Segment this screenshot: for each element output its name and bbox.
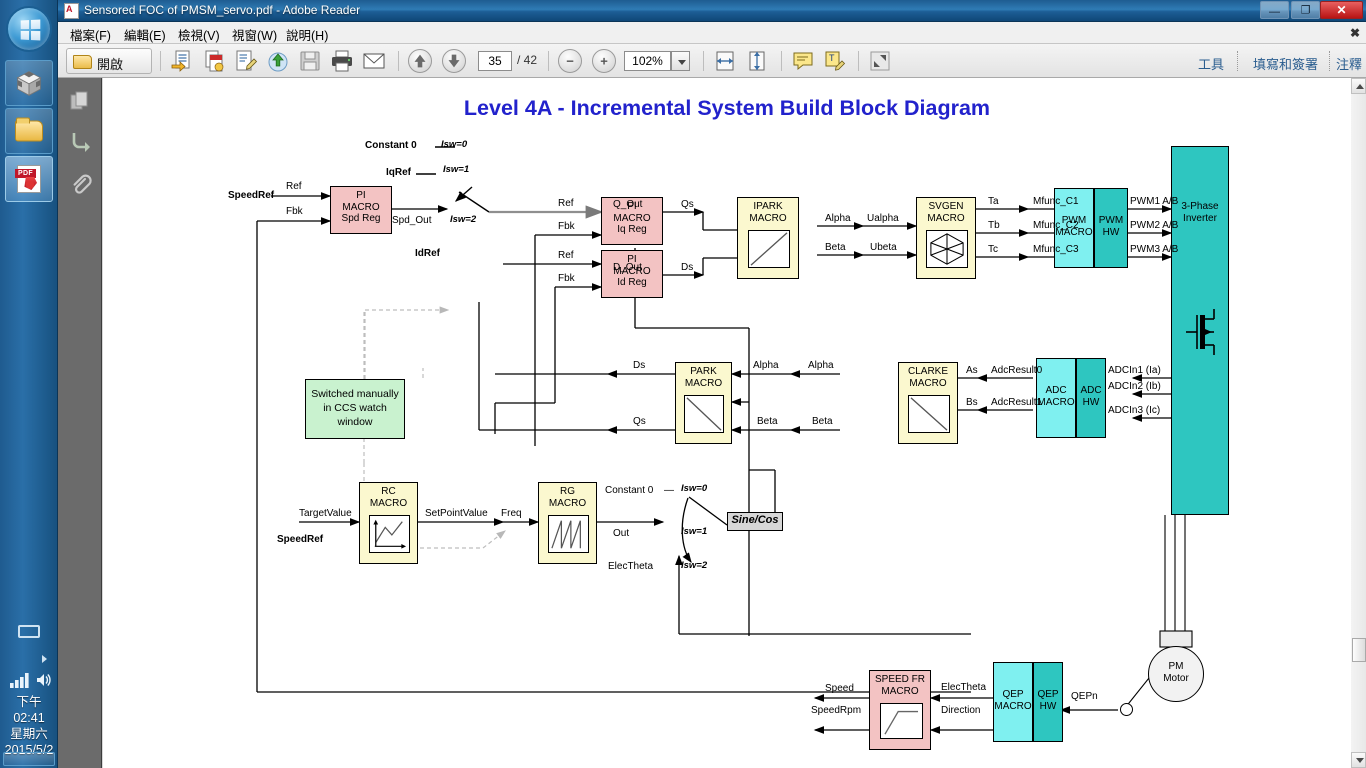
block-label: 3-PhaseInverter <box>1181 201 1218 224</box>
block-speed-fr-macro[interactable]: SPEED FRMACRO <box>869 670 931 750</box>
label-q-out: Q_Out <box>613 199 642 210</box>
ipark-glyph-icon <box>748 230 790 268</box>
menu-view[interactable]: 檢視(V) <box>174 25 224 44</box>
label-qepn: QEPn <box>1071 691 1098 702</box>
clock-time: 下午 02:41 <box>0 694 58 726</box>
dash-bot: — <box>664 485 674 496</box>
email-icon[interactable] <box>362 49 386 73</box>
adobe-reader-icon <box>64 3 79 19</box>
block-rg-macro[interactable]: RGMACRO <box>538 482 597 564</box>
block-label: PIMACROSpd Reg <box>342 190 381 224</box>
block-pi-id-reg[interactable]: PIMACROId Reg <box>601 250 663 298</box>
label-adcin3: ADCIn3 (Ic) <box>1108 405 1160 416</box>
label-isw-2-top: Isw=2 <box>450 215 476 226</box>
minimize-button[interactable]: — <box>1260 1 1289 19</box>
vertical-scrollbar[interactable] <box>1350 78 1366 768</box>
block-qep-macro[interactable]: QEPMACRO <box>993 662 1033 742</box>
print-icon[interactable] <box>330 49 354 73</box>
label-ds-top: Ds <box>681 262 693 273</box>
label-qs-top: Qs <box>681 199 694 210</box>
toolbar-divider <box>703 51 704 71</box>
cube-icon <box>15 69 43 97</box>
label-adcin1: ADCIn1 (Ia) <box>1108 365 1161 376</box>
menu-help[interactable]: 說明(H) <box>282 25 332 44</box>
toolbar-divider <box>548 51 549 71</box>
label-isw-0-bot: Isw=0 <box>681 484 707 495</box>
menu-bar: 檔案(F) 編輯(E) 檢視(V) 視窗(W) 說明(H) ✖ <box>58 22 1366 44</box>
block-svgen-macro[interactable]: SVGENMACRO <box>916 197 976 279</box>
label-speedrpm: SpeedRpm <box>811 705 861 716</box>
label-tb: Tb <box>988 220 1000 231</box>
arrow-up-icon <box>409 50 431 72</box>
fit-page-icon[interactable] <box>745 49 769 73</box>
label-ref-1: Ref <box>286 181 302 192</box>
window-titlebar: Sensored FOC of PMSM_servo.pdf - Adobe R… <box>58 0 1366 22</box>
label-mfunc-c3: Mfunc_C3 <box>1033 244 1079 255</box>
label-constant-0-bot: Constant 0 <box>605 485 653 496</box>
label-pwm2: PWM2 A/B <box>1130 220 1178 231</box>
label-bs: Bs <box>966 397 978 408</box>
block-label: PARKMACRO <box>685 366 722 389</box>
block-ipark-macro[interactable]: IPARKMACRO <box>737 197 799 279</box>
zoom-out-button[interactable]: − <box>558 49 582 73</box>
zoom-dropdown-button[interactable] <box>671 51 690 71</box>
block-3phase-inverter[interactable]: 3-PhaseInverter <box>1171 146 1229 515</box>
scroll-down-icon <box>1356 758 1364 763</box>
signal-bars-icon[interactable] <box>10 672 32 688</box>
scroll-up-button[interactable] <box>1351 78 1366 94</box>
taskbar-clock[interactable]: 下午 02:41 星期六 2015/5/2 <box>0 694 58 758</box>
toolbar-divider <box>160 51 161 71</box>
label-freq: Freq <box>501 508 522 519</box>
fit-width-icon[interactable] <box>713 49 737 73</box>
ramp-generator-glyph-icon <box>548 515 589 553</box>
label-adcin2: ADCIn2 (Ib) <box>1108 381 1161 392</box>
label-isw-0-top: Isw=0 <box>441 140 467 151</box>
block-label: SVGENMACRO <box>927 201 964 224</box>
fullscreen-icon[interactable] <box>868 49 892 73</box>
page-number-input[interactable]: 35 <box>478 51 512 71</box>
save-icon[interactable] <box>298 49 322 73</box>
zoom-level-input[interactable]: 102% <box>624 51 671 71</box>
block-label: ADCMACRO <box>1037 385 1074 408</box>
block-diagram: Level 4A - Incremental System Build Bloc… <box>103 78 1351 768</box>
label-ubeta: Ubeta <box>870 242 897 253</box>
menubar-close-icon[interactable]: ✖ <box>1350 26 1360 40</box>
menu-file[interactable]: 檔案(F) <box>66 25 115 44</box>
ramp-control-glyph-icon <box>369 515 410 553</box>
block-qep-hw[interactable]: QEPHW <box>1033 662 1063 742</box>
block-label: ADCHW <box>1080 385 1101 408</box>
block-label: QEPHW <box>1037 689 1058 712</box>
navigation-pane <box>58 78 102 768</box>
toolbar: 開啟 <box>58 44 1366 78</box>
label-alpha-park: Alpha <box>753 360 779 371</box>
fill-and-sign-link[interactable]: 填寫和簽署 <box>1253 54 1318 73</box>
scrollbar-thumb[interactable] <box>1352 638 1366 662</box>
next-page-button[interactable] <box>442 49 466 73</box>
label-constant-0-top: Constant 0 <box>365 140 417 151</box>
label-ref-2: Ref <box>558 198 574 209</box>
toolbar-divider <box>858 51 859 71</box>
create-pdf-icon[interactable] <box>170 49 194 73</box>
menu-window[interactable]: 視窗(W) <box>228 25 281 44</box>
label-isw-1-bot: Isw=1 <box>681 527 707 538</box>
toolbar-divider <box>1329 51 1330 71</box>
speed-fr-glyph-icon <box>880 703 923 739</box>
speaker-icon[interactable] <box>36 672 52 688</box>
comment-link[interactable]: 注釋 <box>1336 54 1362 73</box>
label-electheta-qep: ElecTheta <box>941 682 986 693</box>
fill-and-sign-icon[interactable] <box>234 49 258 73</box>
clarke-glyph-icon <box>908 395 950 433</box>
block-note-switched-manually: Switched manuallyin CCS watchwindow <box>305 379 405 439</box>
send-for-signature-icon[interactable] <box>266 49 290 73</box>
folder-icon <box>15 121 43 142</box>
show-desktop-button[interactable] <box>3 752 55 766</box>
label-fbk-2: Fbk <box>558 221 575 232</box>
block-label: PMMotor <box>1163 661 1189 684</box>
block-label: IPARKMACRO <box>749 201 786 224</box>
label-alpha-ipark: Alpha <box>825 213 851 224</box>
label-mfunc-c2: Mfunc_C2 <box>1033 220 1079 231</box>
adobe-reader-window: Sensored FOC of PMSM_servo.pdf - Adobe R… <box>58 0 1366 768</box>
zoom-in-button[interactable]: + <box>592 49 616 73</box>
label-adcresult0: AdcResult0 <box>991 365 1042 376</box>
label-targetvalue: TargetValue <box>299 508 352 519</box>
maximize-button[interactable]: ❐ <box>1291 1 1320 19</box>
taskbar-item-windows-explorer[interactable] <box>5 108 53 154</box>
encoder-node <box>1120 703 1133 716</box>
label-beta-clarke: Beta <box>812 416 833 427</box>
start-button[interactable] <box>6 6 52 52</box>
park-glyph-icon <box>684 395 724 433</box>
label-pwm3: PWM3 A/B <box>1130 244 1178 255</box>
label-isw-2-bot: Isw=2 <box>681 561 707 572</box>
note-label: Switched manuallyin CCS watchwindow <box>311 388 399 428</box>
previous-page-button[interactable] <box>408 49 432 73</box>
menu-edit[interactable]: 編輯(E) <box>120 25 170 44</box>
svgen-hexagon-icon <box>926 230 968 268</box>
block-label: SPEED FRMACRO <box>875 674 925 697</box>
maximize-icon: ❐ <box>1301 4 1311 17</box>
label-as: As <box>966 365 978 376</box>
block-label: PWMHW <box>1099 215 1123 238</box>
block-clarke-macro[interactable]: CLARKEMACRO <box>898 362 958 444</box>
pdf-icon <box>17 165 41 193</box>
label-fbk-3: Fbk <box>558 273 575 284</box>
block-pi-spd-reg[interactable]: PIMACROSpd Reg <box>330 186 392 234</box>
label-beta-park: Beta <box>757 416 778 427</box>
document-page[interactable]: Level 4A - Incremental System Build Bloc… <box>103 78 1351 768</box>
window-title: Sensored FOC of PMSM_servo.pdf - Adobe R… <box>84 3 360 17</box>
label-qs-park: Qs <box>633 416 646 427</box>
scroll-down-button[interactable] <box>1351 752 1366 768</box>
block-park-macro[interactable]: PARKMACRO <box>675 362 732 444</box>
label-direction: Direction <box>941 705 980 716</box>
toolbar-divider <box>781 51 782 71</box>
tools-link[interactable]: 工具 <box>1198 54 1224 73</box>
label-speedref-top: SpeedRef <box>228 190 274 201</box>
block-pm-motor[interactable]: PMMotor <box>1148 646 1204 702</box>
label-tc: Tc <box>988 244 998 255</box>
label-electheta-rg: ElecTheta <box>608 561 653 572</box>
label-spd-out: Spd_Out <box>392 215 431 226</box>
chevron-right-icon[interactable] <box>42 655 47 663</box>
label-setpointvalue: SetPointValue <box>425 508 488 519</box>
label-out: Out <box>613 528 629 539</box>
attachments-icon[interactable] <box>68 172 92 196</box>
label-mfunc-c1: Mfunc_C1 <box>1033 196 1079 207</box>
open-button[interactable]: 開啟 <box>66 48 152 74</box>
minimize-icon: — <box>1269 6 1280 18</box>
close-button[interactable]: ✕ <box>1320 1 1363 19</box>
block-label: RGMACRO <box>549 486 586 509</box>
minus-icon: − <box>566 54 574 69</box>
toolbar-divider <box>398 51 399 71</box>
label-d-out: D_Out <box>613 262 642 273</box>
block-rc-macro[interactable]: RCMACRO <box>359 482 418 564</box>
label-pwm1: PWM1 A/B <box>1130 196 1178 207</box>
page-thumbnails-icon[interactable] <box>68 90 92 114</box>
bookmarks-icon[interactable] <box>68 130 92 154</box>
page-total-label: / 42 <box>517 53 537 67</box>
toolbar-divider <box>1237 51 1238 71</box>
open-button-label: 開啟 <box>97 54 123 73</box>
highlight-icon[interactable]: T <box>823 49 847 73</box>
svg-text:T: T <box>829 53 835 63</box>
block-label: RCMACRO <box>370 486 407 509</box>
label-ta: Ta <box>988 196 999 207</box>
label-idref: IdRef <box>415 248 440 259</box>
label-alpha-clarke: Alpha <box>808 360 834 371</box>
folder-open-icon <box>73 55 92 69</box>
clock-weekday: 星期六 <box>0 726 58 742</box>
block-adc-hw[interactable]: ADCHW <box>1076 358 1106 438</box>
windows-taskbar: 下午 02:41 星期六 2015/5/2 <box>0 0 58 768</box>
mosfet-symbol-icon <box>1184 307 1220 357</box>
arrow-down-icon <box>443 50 465 72</box>
block-label: QEPMACRO <box>994 689 1031 712</box>
taskbar-item-adobe-reader[interactable] <box>5 156 53 202</box>
keyboard-icon[interactable] <box>18 625 40 638</box>
label-ds-park: Ds <box>633 360 645 371</box>
label-speedref-bottom: SpeedRef <box>277 534 323 545</box>
comment-icon[interactable] <box>791 49 815 73</box>
label-beta-ipark: Beta <box>825 242 846 253</box>
label-ref-3: Ref <box>558 250 574 261</box>
label-iqref: IqRef <box>386 167 411 178</box>
block-label: CLARKEMACRO <box>908 366 948 389</box>
block-sine-cos[interactable]: Sine/Cos <box>727 512 783 531</box>
scroll-up-icon <box>1356 84 1364 89</box>
label-speed: Speed <box>825 683 854 694</box>
taskbar-item-aero-flip-3d[interactable] <box>5 60 53 106</box>
combine-files-icon[interactable] <box>202 49 226 73</box>
label-ualpha: Ualpha <box>867 213 899 224</box>
block-label: Sine/Cos <box>731 514 778 526</box>
label-fbk-1: Fbk <box>286 206 303 217</box>
label-isw-1-top: Isw=1 <box>443 165 469 176</box>
label-adcresult1: AdcResult1 <box>991 397 1042 408</box>
close-icon: ✕ <box>1336 3 1346 17</box>
block-pwm-hw[interactable]: PWMHW <box>1094 188 1128 268</box>
plus-icon: + <box>600 54 608 69</box>
